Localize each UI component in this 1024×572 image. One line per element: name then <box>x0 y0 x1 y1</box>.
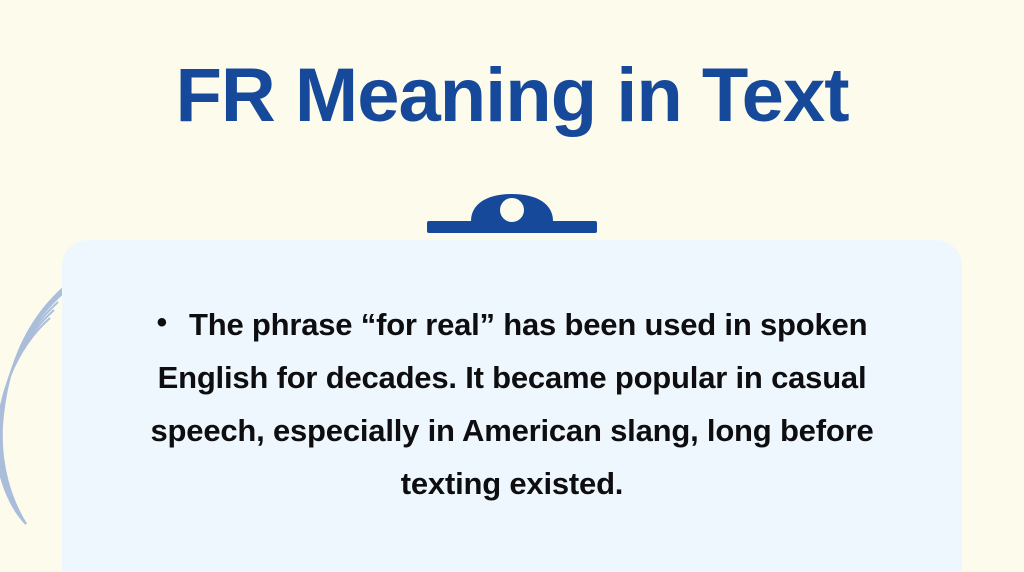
list-item: •The phrase “for real” has been used in … <box>112 298 912 510</box>
bullet-list: •The phrase “for real” has been used in … <box>62 298 962 510</box>
slide-canvas: FR Meaning in Text •The phrase “for real… <box>0 0 1024 572</box>
bullet-point-icon: • <box>157 308 167 338</box>
page-title: FR Meaning in Text <box>0 58 1024 134</box>
content-card: •The phrase “for real” has been used in … <box>62 240 962 572</box>
anchor-divider-icon <box>427 192 597 236</box>
list-item-text: The phrase “for real” has been used in s… <box>151 307 874 501</box>
